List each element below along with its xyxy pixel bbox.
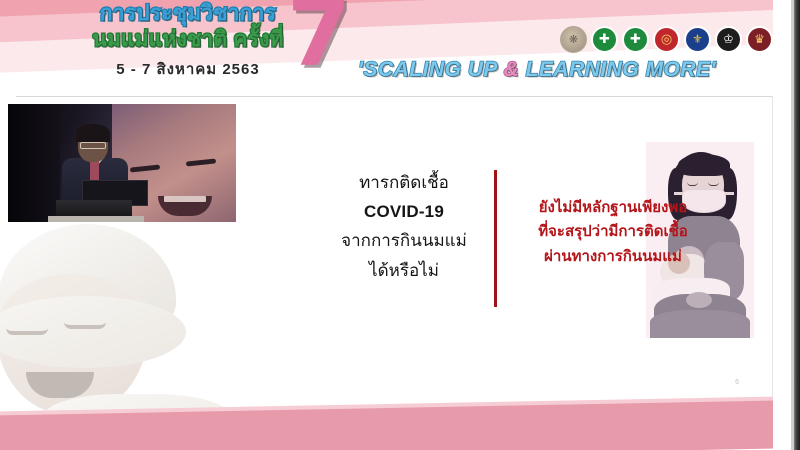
question-text-block: ทารกติดเชื้อ COVID-19 จากการกินนมแม่ ได้… — [322, 168, 486, 285]
slide-header-banner: การประชุมวิชาการ นมแม่แห่งชาติ ครั้งที่ … — [0, 0, 791, 96]
royal-seal-logo — [560, 26, 587, 53]
conference-date: 5 - 7 สิงหาคม 2563 — [58, 57, 318, 81]
department-of-health-logo — [622, 26, 649, 53]
header-divider-rule — [16, 96, 772, 97]
vertical-red-divider — [494, 170, 497, 307]
mahidol-emblem-logo — [684, 26, 711, 53]
ministry-of-public-health-logo — [591, 26, 618, 53]
window-right-border[interactable] — [794, 0, 800, 450]
question-line-2: COVID-19 — [322, 197, 486, 226]
speaker-video-thumbnail[interactable] — [8, 104, 236, 222]
answer-line-1: ยังไม่มีหลักฐานเพียงพอ — [500, 196, 726, 220]
watermark-child-photo — [0, 222, 260, 427]
screenshot-root: การประชุมวิชาการ นมแม่แห่งชาติ ครั้งที่ … — [0, 0, 800, 450]
royal-college-logo — [715, 26, 742, 53]
pediatric-society-logo — [746, 26, 773, 53]
conference-tagline: 'SCALING UP & LEARNING MORE' — [358, 58, 716, 82]
tagline-part1: 'SCALING UP — [358, 58, 504, 81]
glasses-icon — [80, 142, 106, 149]
conference-title-line2: นมแม่แห่งชาติ ครั้งที่ — [58, 29, 318, 50]
question-line-3: จากการกินนมแม่ — [322, 226, 486, 255]
question-line-1: ทารกติดเชื้อ — [322, 168, 486, 197]
answer-line-2: ที่จะสรุปว่ามีการติดเชื้อ — [500, 220, 726, 244]
slide-right-border-line — [772, 96, 773, 396]
answer-text-block: ยังไม่มีหลักฐานเพียงพอ ที่จะสรุปว่ามีการ… — [500, 196, 726, 269]
answer-line-3: ผ่านทางการกินนมแม่ — [500, 245, 726, 269]
tagline-part2: LEARNING MORE' — [519, 58, 716, 81]
conference-edition-number: 7 — [287, 0, 351, 80]
presentation-slide: การประชุมวิชาการ นมแม่แห่งชาติ ครั้งที่ … — [0, 0, 791, 450]
conference-title-block: การประชุมวิชาการ นมแม่แห่งชาติ ครั้งที่ … — [58, 3, 318, 81]
conference-title-line1: การประชุมวิชาการ — [58, 3, 318, 24]
question-line-4: ได้หรือไม่ — [322, 256, 486, 285]
slide-right-gutter — [773, 0, 791, 450]
sponsor-logo-row: สสส Thai Health — [560, 22, 791, 56]
tagline-ampersand: & — [504, 58, 520, 81]
slide-page-number: 6 — [735, 379, 739, 386]
chulalongkorn-emblem-logo — [653, 26, 680, 53]
